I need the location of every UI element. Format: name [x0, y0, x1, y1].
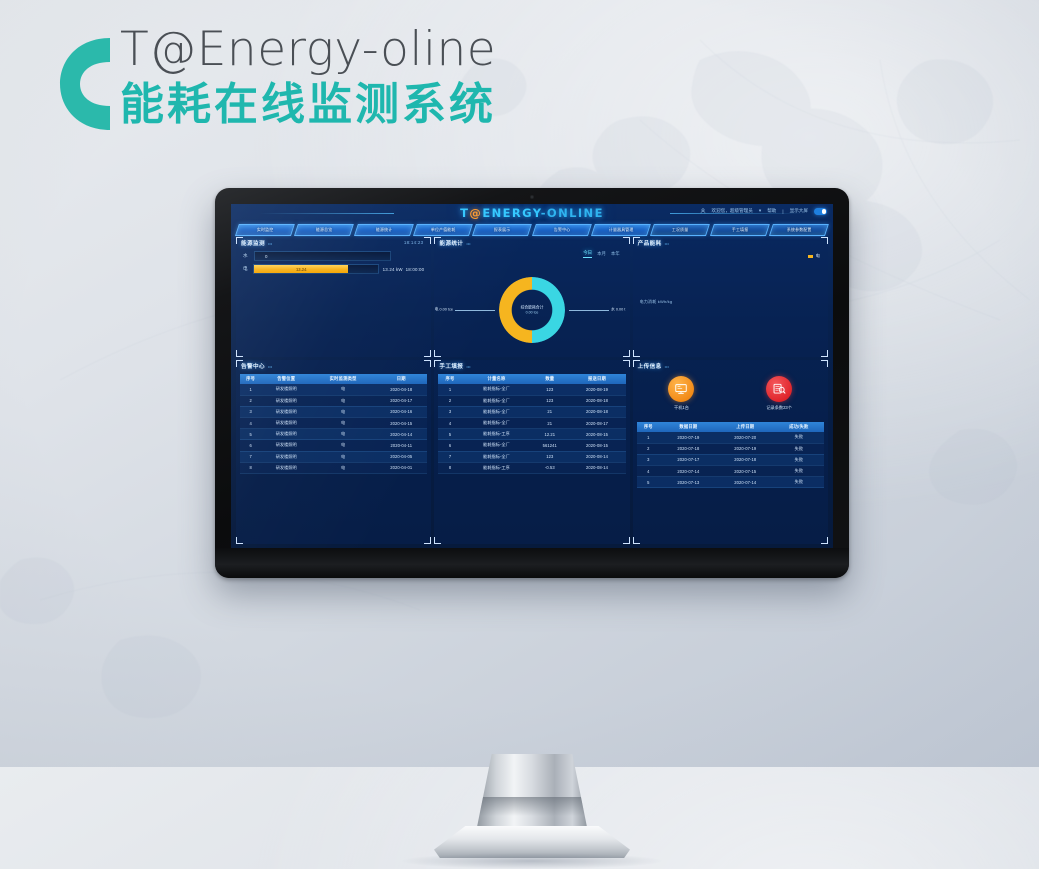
table-row[interactable]: 6能耗指标-全厂5612412020-08-15 — [438, 440, 625, 451]
webcam-dot-icon — [530, 195, 534, 199]
user-divider: | — [782, 209, 783, 214]
cell-0: 8 — [438, 462, 461, 473]
cell-2: -0.53 — [531, 462, 568, 473]
panel-header: 手工填报 ••• — [439, 362, 470, 370]
nav-item-1[interactable]: 能源总览 — [294, 224, 354, 236]
app-title-suffix: -ONLINE — [541, 206, 604, 220]
product-energy-legend: 电 — [808, 253, 820, 259]
cell-1: 2020-07-18 — [660, 443, 717, 454]
column-header-0: 序号 — [240, 374, 261, 384]
cell-3: 失败 — [774, 465, 824, 476]
cell-1: 能耗指标-全厂 — [462, 417, 531, 428]
computer-icon — [668, 376, 694, 402]
cell-0: 2 — [637, 443, 660, 454]
app-title-t: T — [460, 206, 469, 220]
panel-title: 能源统计 — [439, 239, 463, 247]
table-row[interactable]: 4能耗指标-全厂212020-08-17 — [438, 417, 625, 428]
monitor-stand-shadow — [402, 853, 662, 869]
cell-2: 2020-07-19 — [717, 443, 774, 454]
cell-0: 3 — [240, 406, 261, 417]
panel-menu-dots-icon[interactable]: ••• — [665, 241, 669, 246]
panel-energy-monitor: 能源监测 ••• 18:14:23 水 0 0 m³/h 18:00:00 — [236, 237, 431, 357]
bar-value-power: 13.24 — [296, 267, 306, 272]
table-header-row: 序号数据日期上传日期成功/失败 — [637, 422, 824, 432]
upload-stat-caption-machines: 干机1台 — [668, 405, 694, 411]
cell-2: 电 — [311, 406, 375, 417]
cell-2: 电 — [311, 451, 375, 462]
table-row[interactable]: 52020-07-132020-07-14失败 — [637, 477, 824, 488]
legend-label-power: 电 — [816, 253, 820, 259]
cell-3: 失败 — [774, 477, 824, 488]
cell-1: 研发楼照明 — [261, 417, 311, 428]
cell-2: 电 — [311, 462, 375, 473]
cell-2: 123 — [531, 451, 568, 462]
nav-item-8[interactable]: 手工填报 — [710, 224, 770, 236]
column-header-2: 上传日期 — [717, 422, 774, 432]
cell-1: 能耗指标-全厂 — [462, 406, 531, 417]
alarm-table: 序号告警位置实时监测类型日期 1研发楼照明电2020-04-182研发楼照明电2… — [240, 374, 427, 474]
panel-title: 上传信息 — [638, 362, 662, 370]
table-row[interactable]: 32020-07-172020-07-18失败 — [637, 454, 824, 465]
brand-title-cn: 能耗在线监测系统 — [120, 81, 496, 129]
energy-bar-row-power: 电 13.24 13.24 kW 18:00:00 — [243, 265, 424, 273]
cell-0: 3 — [438, 406, 461, 417]
panel-title: 告警中心 — [241, 362, 265, 370]
cell-2: 561241 — [531, 440, 568, 451]
bar-label-water: 水 — [243, 253, 250, 259]
cell-3: 2020-08-14 — [568, 451, 625, 462]
cell-0: 6 — [438, 440, 461, 451]
cell-0: 8 — [240, 462, 261, 473]
table-row[interactable]: 3能耗指标-全厂212020-08-18 — [438, 406, 625, 417]
cell-1: 研发楼照明 — [261, 406, 311, 417]
cell-3: 2020-04-15 — [375, 417, 427, 428]
alarm-table-head: 序号告警位置实时监测类型日期 — [240, 374, 427, 384]
cell-0: 4 — [637, 465, 660, 476]
tab-year[interactable]: 本年 — [611, 251, 620, 257]
cell-2: 21 — [531, 406, 568, 417]
panel-manual-entry: 手工填报 ••• 序号计量名称数量报送日期 1能耗指标-全厂1232020-08… — [434, 360, 629, 544]
nav-item-9[interactable]: 系统参数配置 — [769, 224, 829, 236]
cell-2: 2020-07-14 — [717, 477, 774, 488]
cell-0: 3 — [637, 454, 660, 465]
column-header-0: 序号 — [438, 374, 461, 384]
cell-1: 2020-07-19 — [660, 432, 717, 443]
energy-bar-list: 水 0 0 m³/h 18:00:00 电 13.24 — [243, 252, 424, 278]
bar-track-power: 13.24 — [253, 264, 378, 274]
cell-3: 失败 — [774, 454, 824, 465]
cell-0: 1 — [240, 384, 261, 395]
cell-0: 7 — [438, 451, 461, 462]
energy-donut-chart: 综合能耗合计 0.00 tce 电 0.00 tce 水 0.00 t — [434, 267, 629, 353]
upload-stat-list: 干机1台 记录条数23个 — [633, 376, 828, 420]
cell-0: 6 — [240, 440, 261, 451]
alarm-table-body: 1研发楼照明电2020-04-182研发楼照明电2020-04-173研发楼照明… — [240, 384, 427, 473]
panel-upload-info: 上传信息 ••• — [633, 360, 828, 544]
table-row[interactable]: 4研发楼照明电2020-04-15 — [240, 417, 427, 428]
table-row[interactable]: 42020-07-142020-07-15失败 — [637, 465, 824, 476]
cell-1: 研发楼照明 — [261, 429, 311, 440]
cell-0: 7 — [240, 451, 261, 462]
cell-1: 研发楼照明 — [261, 384, 311, 395]
document-search-icon-glyph — [772, 382, 786, 396]
app-title: T@ENERGY-ONLINE — [460, 206, 604, 220]
column-header-2: 实时监测类型 — [311, 374, 375, 384]
panel-header: 能源统计 ••• — [439, 239, 470, 247]
upload-table-wrap[interactable]: 序号数据日期上传日期成功/失败 12020-07-192020-07-20失败2… — [637, 422, 824, 543]
panel-menu-dots-icon[interactable]: ••• — [665, 364, 669, 369]
cell-2: 电 — [311, 440, 375, 451]
table-row[interactable]: 2研发楼照明电2020-04-17 — [240, 395, 427, 406]
cell-1: 能耗指标-全厂 — [462, 395, 531, 406]
column-header-1: 计量名称 — [462, 374, 531, 384]
panel-energy-statistics: 能源统计 ••• 今日 本月 本年 综合能耗合计 0.00 tce — [434, 237, 629, 357]
column-header-1: 数据日期 — [660, 422, 717, 432]
energy-bar-row-water: 水 0 0 m³/h 18:00:00 — [243, 252, 424, 260]
cell-0: 4 — [240, 417, 261, 428]
column-header-0: 序号 — [637, 422, 660, 432]
cell-0: 2 — [438, 395, 461, 406]
app-title-main: ENERGY — [482, 206, 540, 220]
table-row[interactable]: 3研发楼照明电2020-04-16 — [240, 406, 427, 417]
cell-2: 电 — [311, 384, 375, 395]
monitor-stand-neck — [476, 754, 588, 832]
cell-1: 研发楼照明 — [261, 451, 311, 462]
column-header-3: 报送日期 — [568, 374, 625, 384]
manual-table-wrap[interactable]: 序号计量名称数量报送日期 1能耗指标-全厂1232020-08-192能耗指标-… — [438, 374, 625, 543]
cell-3: 2020-08-17 — [568, 417, 625, 428]
cell-3: 2020-08-19 — [568, 384, 625, 395]
cell-2: 2020-07-15 — [717, 465, 774, 476]
user-icon — [700, 208, 706, 214]
cell-1: 2020-07-17 — [660, 454, 717, 465]
cell-1: 能耗指标-全厂 — [462, 384, 531, 395]
dashboard-grid: 能源监测 ••• 18:14:23 水 0 0 m³/h 18:00:00 — [236, 237, 828, 544]
table-row[interactable]: 5研发楼照明电2020-04-14 — [240, 429, 427, 440]
cell-3: 2020-08-15 — [568, 440, 625, 451]
panel-frame — [633, 237, 828, 357]
panel-menu-dots-icon[interactable]: ••• — [466, 364, 470, 369]
cell-0: 1 — [438, 384, 461, 395]
cell-1: 研发楼照明 — [261, 462, 311, 473]
table-row[interactable]: 2能耗指标-全厂1232020-08-18 — [438, 395, 625, 406]
panel-title: 手工填报 — [439, 362, 463, 370]
panel-header: 上传信息 ••• — [638, 362, 669, 370]
column-header-3: 成功/失败 — [774, 422, 824, 432]
table-row[interactable]: 1能耗指标-全厂1232020-08-19 — [438, 384, 625, 395]
brand-header: T@Energy-oline 能耗在线监测系统 — [54, 26, 614, 156]
upload-table: 序号数据日期上传日期成功/失败 12020-07-192020-07-20失败2… — [637, 422, 824, 488]
nav-item-5[interactable]: 告警中心 — [532, 224, 592, 236]
document-search-icon — [766, 376, 792, 402]
cell-3: 2020-08-18 — [568, 406, 625, 417]
donut-graphic: 综合能耗合计 0.00 tce 电 0.00 tce 水 0.00 t — [499, 277, 565, 343]
cell-1: 2020-07-13 — [660, 477, 717, 488]
table-row[interactable]: 22020-07-182020-07-19失败 — [637, 443, 824, 454]
c-logo-mark-icon — [54, 30, 116, 138]
panel-alarm-center: 告警中心 ••• 序号告警位置实时监测类型日期 1研发楼照明电2020-04-1… — [236, 360, 431, 544]
cell-2: 电 — [311, 429, 375, 440]
nav-label-4: 报表展示 — [494, 227, 510, 233]
table-header-row: 序号告警位置实时监测类型日期 — [240, 374, 427, 384]
cell-2: 123 — [531, 384, 568, 395]
monitor-device: T@ENERGY-ONLINE 欢迎您，超级管理员 ▾ 帮助 | 显示大屏 实时… — [215, 188, 849, 578]
nav-label-1: 能源总览 — [316, 227, 332, 233]
cell-3: 2020-08-14 — [568, 462, 625, 473]
cell-3: 2020-04-11 — [375, 440, 427, 451]
bar-track-water — [254, 251, 391, 261]
cell-3: 失败 — [774, 443, 824, 454]
app-topbar: T@ENERGY-ONLINE 欢迎您，超级管理员 ▾ 帮助 | 显示大屏 — [231, 204, 833, 223]
table-row[interactable]: 1研发楼照明电2020-04-18 — [240, 384, 427, 395]
cell-3: 2020-08-18 — [568, 395, 625, 406]
cell-0: 5 — [637, 477, 660, 488]
cell-0: 5 — [438, 429, 461, 440]
table-header-row: 序号计量名称数量报送日期 — [438, 374, 625, 384]
nav-label-8: 手工填报 — [731, 227, 747, 233]
fullscreen-label: 显示大屏 — [790, 208, 808, 214]
cell-3: 2020-04-16 — [375, 406, 427, 417]
donut-center-label: 综合能耗合计 0.00 tce — [499, 306, 565, 315]
table-row[interactable]: 6研发楼照明电2020-04-11 — [240, 440, 427, 451]
table-row[interactable]: 8能耗指标-工序-0.532020-08-14 — [438, 462, 625, 473]
nav-label-3: 单位产值能耗 — [431, 227, 456, 233]
table-row[interactable]: 8研发楼照明电2020-04-01 — [240, 462, 427, 473]
column-header-3: 日期 — [375, 374, 427, 384]
cell-1: 能耗指标-全厂 — [462, 440, 531, 451]
tab-today[interactable]: 今日 — [583, 250, 592, 258]
panel-menu-dots-icon[interactable]: ••• — [466, 241, 470, 246]
bar-inline-value-water: 0 — [265, 254, 267, 259]
donut-label-power: 电 0.00 tce — [411, 308, 453, 313]
bar-readout-power: 13.24 kW 18:00:00 — [383, 267, 425, 272]
toggle-knob — [822, 209, 827, 214]
user-name[interactable]: 欢迎您，超级管理员 — [712, 208, 753, 214]
user-help-link[interactable]: 帮助 — [767, 208, 776, 214]
table-row[interactable]: 7研发楼照明电2020-04-05 — [240, 451, 427, 462]
cell-1: 研发楼照明 — [261, 395, 311, 406]
nav-label-2: 能源统计 — [375, 227, 391, 233]
cell-3: 2020-08-15 — [568, 429, 625, 440]
column-header-2: 数量 — [531, 374, 568, 384]
cell-2: 2020-07-20 — [717, 432, 774, 443]
cell-1: 能耗指标-工序 — [462, 462, 531, 473]
cell-0: 2 — [240, 395, 261, 406]
alarm-table-wrap[interactable]: 序号告警位置实时监测类型日期 1研发楼照明电2020-04-182研发楼照明电2… — [240, 374, 427, 543]
title-wing-left — [259, 213, 394, 214]
cell-1: 2020-07-14 — [660, 465, 717, 476]
upload-table-body: 12020-07-192020-07-20失败22020-07-182020-0… — [637, 432, 824, 487]
panel-menu-dots-icon[interactable]: ••• — [268, 241, 272, 246]
upload-stat-records[interactable]: 记录条数23个 — [766, 376, 792, 411]
tab-month[interactable]: 本月 — [597, 251, 606, 257]
cell-3: 2020-04-01 — [375, 462, 427, 473]
nav-label-5: 告警中心 — [553, 227, 569, 233]
cell-0: 1 — [637, 432, 660, 443]
legend-swatch-power — [808, 255, 813, 258]
upload-stat-machines[interactable]: 干机1台 — [668, 376, 694, 411]
nav-item-7[interactable]: 工况质量 — [651, 224, 711, 236]
nav-label-0: 实时监控 — [257, 227, 273, 233]
energy-monitor-clock: 18:14:23 — [404, 240, 424, 245]
panel-title: 能源监测 — [241, 239, 265, 247]
panel-product-energy: 产品能耗 ••• 电 电力消耗 kWh/kg — [633, 237, 828, 357]
table-row[interactable]: 7能耗指标-全厂1232020-08-14 — [438, 451, 625, 462]
nav-item-3[interactable]: 单位产值能耗 — [413, 224, 473, 236]
bar-reading-power: 13.24 kW — [383, 267, 403, 272]
table-row[interactable]: 12020-07-192020-07-20失败 — [637, 432, 824, 443]
table-row[interactable]: 5能耗指标-工序12.212020-08-15 — [438, 429, 625, 440]
column-header-1: 告警位置 — [261, 374, 311, 384]
brand-title-en: T@Energy-oline — [120, 26, 496, 73]
panel-header: 告警中心 ••• — [241, 362, 272, 370]
nav-item-4[interactable]: 报表展示 — [473, 224, 533, 236]
cell-0: 4 — [438, 417, 461, 428]
cell-2: 123 — [531, 395, 568, 406]
manual-table-body: 1能耗指标-全厂1232020-08-192能耗指标-全厂1232020-08-… — [438, 384, 625, 473]
product-energy-axis-note: 电力消耗 kWh/kg — [640, 299, 673, 305]
upload-stat-caption-records: 记录条数23个 — [766, 405, 792, 411]
cell-3: 失败 — [774, 432, 824, 443]
app-title-at: @ — [469, 206, 482, 220]
main-nav: 实时监控 能源总览 能源统计 单位产值能耗 报表展示 告警中心 计量器具管理 工… — [237, 224, 827, 235]
cell-2: 电 — [311, 417, 375, 428]
monitor-screen: T@ENERGY-ONLINE 欢迎您，超级管理员 ▾ 帮助 | 显示大屏 实时… — [231, 204, 833, 548]
bar-stamp-power: 18:00:00 — [406, 267, 425, 272]
cell-1: 能耗指标-全厂 — [462, 451, 531, 462]
cell-1: 能耗指标-工序 — [462, 429, 531, 440]
cell-2: 电 — [311, 395, 375, 406]
upload-table-head: 序号数据日期上传日期成功/失败 — [637, 422, 824, 432]
nav-item-0[interactable]: 实时监控 — [235, 224, 295, 236]
cell-3: 2020-04-05 — [375, 451, 427, 462]
cell-3: 2020-04-18 — [375, 384, 427, 395]
panel-menu-dots-icon[interactable]: ••• — [268, 364, 272, 369]
cell-3: 2020-04-17 — [375, 395, 427, 406]
panel-header: 产品能耗 ••• — [638, 239, 669, 247]
fullscreen-toggle[interactable] — [814, 208, 827, 215]
bar-fill-power: 13.24 — [254, 265, 348, 273]
computer-icon-glyph — [674, 382, 688, 396]
manual-table-head: 序号计量名称数量报送日期 — [438, 374, 625, 384]
panel-header: 能源监测 ••• — [241, 239, 272, 247]
nav-label-9: 系统参数配置 — [787, 227, 812, 233]
manual-table: 序号计量名称数量报送日期 1能耗指标-全厂1232020-08-192能耗指标-… — [438, 374, 625, 474]
dashboard-app: T@ENERGY-ONLINE 欢迎您，超级管理员 ▾ 帮助 | 显示大屏 实时… — [231, 204, 833, 548]
cell-2: 2020-07-18 — [717, 454, 774, 465]
stats-period-tabs: 今日 本月 本年 — [583, 250, 619, 258]
panel-title: 产品能耗 — [638, 239, 662, 247]
user-chevron-down-icon[interactable]: ▾ — [759, 208, 761, 214]
cell-1: 研发楼照明 — [261, 440, 311, 451]
donut-center-line2: 0.00 tce — [499, 310, 565, 314]
cell-3: 2020-04-14 — [375, 429, 427, 440]
cell-0: 5 — [240, 429, 261, 440]
user-area: 欢迎您，超级管理员 ▾ 帮助 | 显示大屏 — [700, 208, 827, 215]
nav-item-2[interactable]: 能源统计 — [354, 224, 414, 236]
nav-label-6: 计量器具管理 — [609, 227, 634, 233]
cell-2: 12.21 — [531, 429, 568, 440]
cell-2: 21 — [531, 417, 568, 428]
nav-label-7: 工况质量 — [672, 227, 688, 233]
nav-item-6[interactable]: 计量器具管理 — [591, 224, 651, 236]
bar-label-power: 电 — [243, 266, 249, 272]
